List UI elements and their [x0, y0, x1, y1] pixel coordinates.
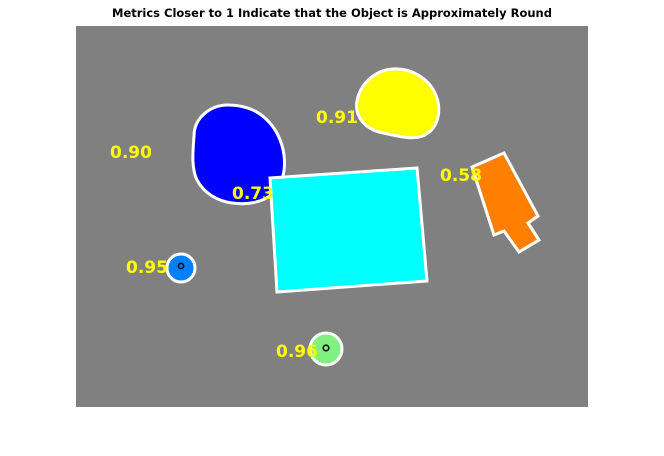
- shape-layer: [76, 26, 588, 407]
- page-title: Metrics Closer to 1 Indicate that the Ob…: [0, 6, 664, 20]
- metric-label-cyan-rectangle: 0.73: [232, 186, 274, 203]
- metric-label-big-blue-blob: 0.90: [110, 145, 152, 162]
- figure-canvas: Metrics Closer to 1 Indicate that the Ob…: [0, 0, 664, 456]
- object-cyan-rectangle[interactable]: [270, 168, 427, 292]
- metric-label-small-blue-circle: 0.95: [126, 260, 168, 277]
- plot-axes: 0.90 0.91 0.73 0.58 0.95 0.96: [76, 26, 588, 407]
- object-orange-polygon[interactable]: [472, 153, 539, 252]
- metric-label-green-circle: 0.96: [276, 344, 318, 361]
- object-yellow-blob[interactable]: [357, 69, 439, 138]
- metric-label-orange-polygon: 0.58: [440, 168, 482, 185]
- metric-label-yellow-blob: 0.91: [316, 110, 358, 127]
